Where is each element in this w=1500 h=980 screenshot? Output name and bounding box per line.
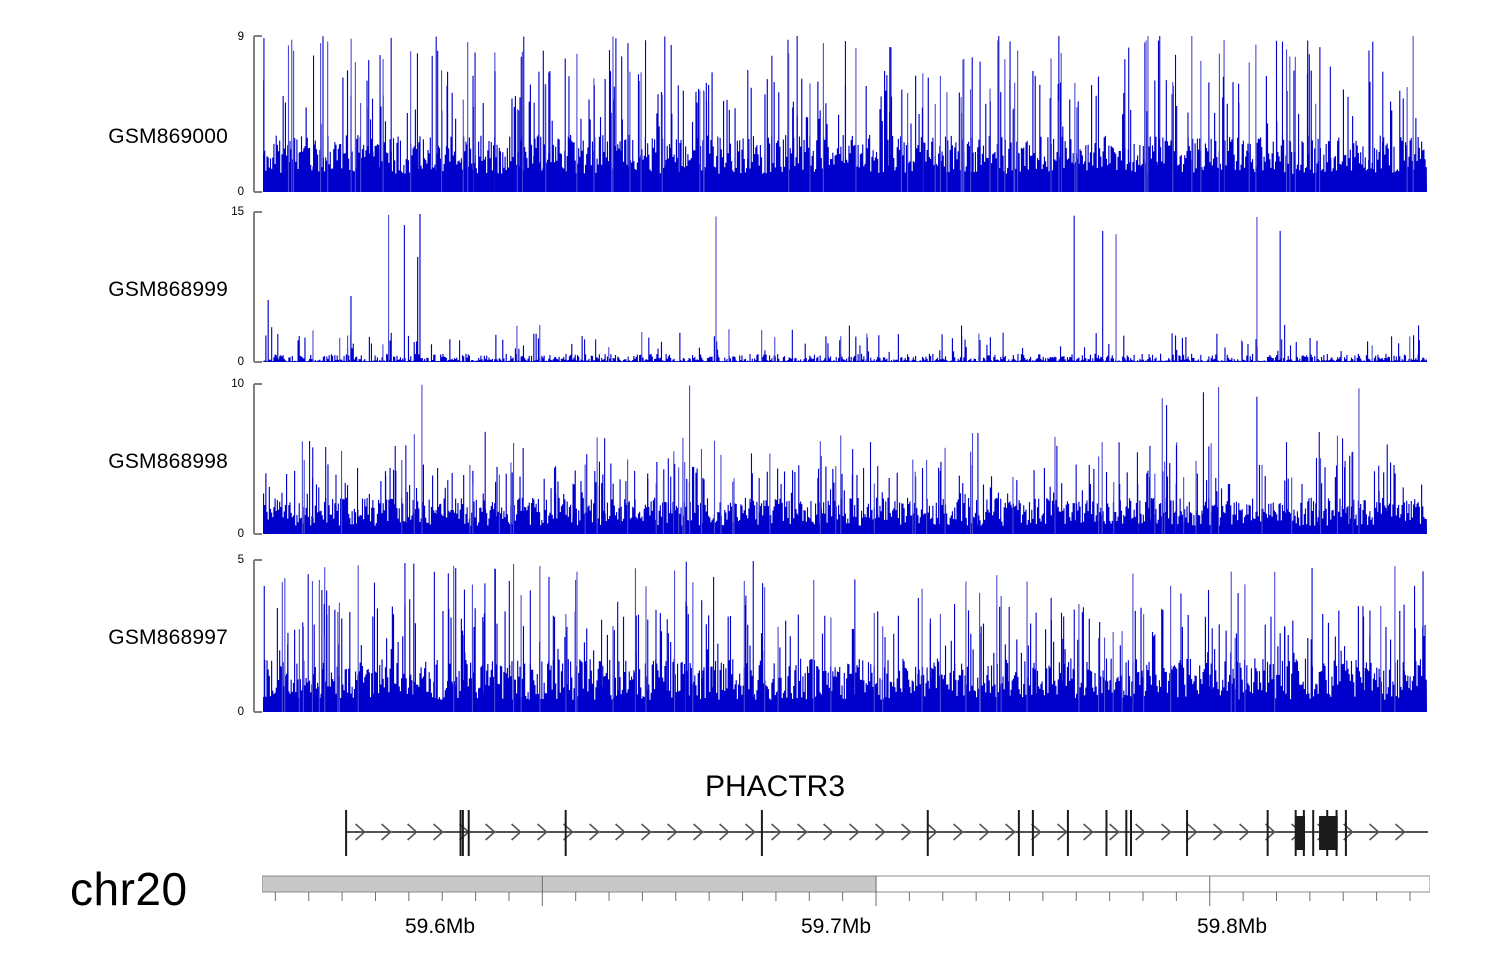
track-label-2: GSM868998 [0,450,228,474]
genome-browser-figure: GSM869000 9 0 GSM868999 15 0 GSM868998 1… [0,0,1500,980]
track-label-3: GSM868997 [0,626,228,650]
axis-min-1: 0 [196,356,244,368]
track-row-0: GSM869000 9 0 [0,30,1500,200]
axis-tick-label-1: 59.7Mb [801,915,871,939]
axis-tick-label-2: 59.8Mb [1197,915,1267,939]
signal-plot-0 [252,30,1427,198]
axis-tick-label-0: 59.6Mb [405,915,475,939]
track-label-1: GSM868999 [0,278,228,302]
axis-max-1: 15 [196,206,244,218]
gene-model-track [262,800,1430,862]
axis-min-3: 0 [200,706,244,718]
genome-axis [262,872,1430,912]
axis-min-2: 0 [196,528,244,540]
track-label-0: GSM869000 [0,125,228,149]
axis-max-3: 5 [200,554,244,566]
signal-plot-2 [252,378,1427,540]
track-row-1: GSM868999 15 0 [0,206,1500,374]
signal-plot-1 [252,206,1427,368]
track-row-2: GSM868998 10 0 [0,378,1500,546]
axis-max-2: 10 [196,378,244,390]
track-row-3: GSM868997 5 0 [0,554,1500,724]
signal-plot-3 [252,554,1427,718]
gene-name-label: PHACTR3 [660,770,890,804]
axis-min-0: 0 [200,186,244,198]
chromosome-label: chr20 [70,862,188,916]
axis-max-0: 9 [200,31,244,43]
